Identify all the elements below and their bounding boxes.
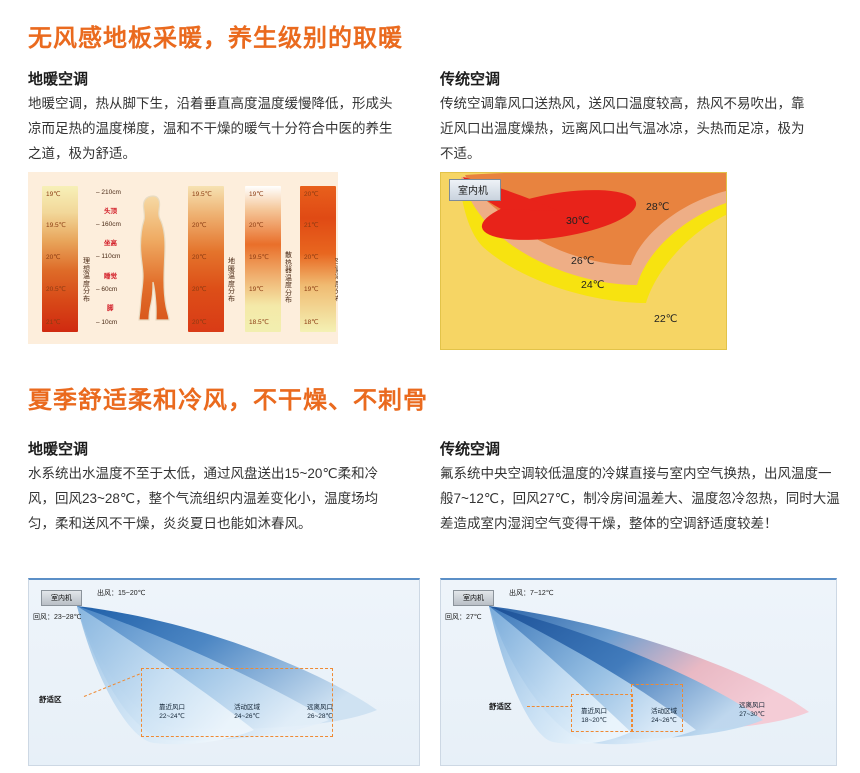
- chart-traditional-ac-airflow: 室内机 出风：7~12℃ 回风：27℃ 舒适区 靠近风口 18~20℃ 活动区域…: [440, 578, 837, 766]
- indoor-unit-badge-left: 室内机: [41, 590, 82, 606]
- section-2-right-body: 氟系统中央空调较低温度的冷媒直接与室内空气换热，出风温度一般7~12℃，回风27…: [440, 462, 840, 537]
- supply-air-label-left: 出风：15~20℃: [97, 588, 146, 598]
- temp-label-24: 24℃: [581, 279, 604, 291]
- return-air-label-right: 回风：27℃: [445, 612, 482, 622]
- gc1-label-0: 19℃: [46, 190, 61, 198]
- gc3-label-2: 19.5℃: [249, 253, 269, 261]
- gc4-label-4: 18℃: [304, 318, 319, 326]
- gc2-label-4: 20℃: [192, 318, 207, 326]
- gc3-label-4: 18.5℃: [249, 318, 269, 326]
- gc4-label-0: 20℃: [304, 190, 319, 198]
- section-1-right-body: 传统空调靠风口送热风，送风口温度较高，热风不易吹出，靠近风口出温度燥热，远离风口…: [440, 92, 810, 167]
- comfort-zone-box-left: [141, 668, 333, 737]
- section-2-left-body: 水系统出水温度不至于太低，通过风盘送出15~20℃柔和冷风，回风23~28℃，整…: [28, 462, 398, 537]
- body-mark-3: 脚: [107, 302, 114, 312]
- section-2-title: 夏季舒适柔和冷风，不干燥、不刺骨: [28, 380, 428, 415]
- gc2-label-2: 20℃: [192, 253, 207, 261]
- airflow-cones-right: [441, 580, 836, 765]
- indoor-unit-badge: 室内机: [449, 179, 501, 201]
- comfort-zone-tag-right: 舒适区: [489, 701, 512, 712]
- temp-label-30: 30℃: [566, 215, 589, 227]
- gc4-label-3: 19℃: [304, 285, 319, 293]
- gc1-title: 理想温度分布: [82, 258, 91, 303]
- section-1-left-body: 地暖空调，热从脚下生，沿着垂直高度温度缓慢降低，形成头凉而足热的温度梯度，温和不…: [28, 92, 398, 167]
- gc2-title: 地暖温度分布: [227, 258, 236, 303]
- temp-label-26: 26℃: [571, 255, 594, 267]
- return-air-label-left: 回风：23~28℃: [33, 612, 82, 622]
- gc4-title: 空调温度分布: [334, 258, 338, 303]
- comfort-zone-tag-left: 舒适区: [39, 694, 62, 705]
- height-mark-3: – 60cm: [96, 286, 117, 293]
- height-mark-4: – 10cm: [96, 319, 117, 326]
- product-comparison-page: 无风感地板采暖，养生级别的取暖 地暖空调 地暖空调，热从脚下生，沿着垂直高度温度…: [0, 0, 860, 773]
- temp-label-28: 28℃: [646, 201, 669, 213]
- gc4-label-1: 21℃: [304, 221, 319, 229]
- section-2-right-heading: 传统空调: [440, 438, 500, 459]
- indoor-unit-badge-right: 室内机: [453, 590, 494, 606]
- body-mark-1: 坐高: [104, 237, 117, 247]
- height-mark-1: – 160cm: [96, 221, 121, 228]
- body-mark-2: 睡觉: [104, 270, 117, 280]
- body-mark-0: 头顶: [104, 205, 117, 215]
- gc4-label-2: 20℃: [304, 253, 319, 261]
- human-silhouette-icon: [136, 194, 174, 322]
- zone-label-left-2: 远离风口 26~28℃: [307, 704, 333, 722]
- gc3-title: 散热器温度分布: [284, 252, 293, 305]
- section-2-left-heading: 地暖空调: [28, 438, 88, 459]
- zone-label-right-1: 活动区域 24~26℃: [651, 708, 677, 726]
- gc2-label-3: 20℃: [192, 285, 207, 293]
- chart-floor-heating-airflow: 室内机 出风：15~20℃ 回风：23~28℃ 舒适区 靠近风口 22~24℃ …: [28, 578, 420, 766]
- gc2-label-1: 20℃: [192, 221, 207, 229]
- gc1-label-2: 20℃: [46, 253, 61, 261]
- section-1-left-heading: 地暖空调: [28, 68, 88, 89]
- gc2-label-0: 19.5℃: [192, 190, 212, 198]
- gc1-label-1: 19.5℃: [46, 221, 66, 229]
- height-mark-2: – 110cm: [96, 253, 120, 260]
- gc3-label-1: 20℃: [249, 221, 264, 229]
- comfort-leader-line-right: [527, 706, 573, 707]
- chart-traditional-ac-heat-field: 室内机 30℃ 28℃ 26℃ 24℃ 22℃: [440, 172, 727, 350]
- chart-vertical-temperature-gradient: 19℃ 19.5℃ 20℃ 20.5℃ 21℃ 理想温度分布 – 210cm 头…: [28, 172, 338, 344]
- temp-label-22: 22℃: [654, 313, 677, 325]
- gc1-label-4: 21℃: [46, 318, 61, 326]
- section-1-title: 无风感地板采暖，养生级别的取暖: [28, 18, 403, 53]
- zone-label-left-0: 靠近风口 22~24℃: [159, 704, 185, 722]
- gc1-label-3: 20.5℃: [46, 285, 66, 293]
- supply-air-label-right: 出风：7~12℃: [509, 588, 554, 598]
- zone-label-right-2: 远离风口 27~30℃: [739, 702, 765, 720]
- gc3-label-3: 19℃: [249, 285, 264, 293]
- gc3-label-0: 19℃: [249, 190, 264, 198]
- zone-label-right-0: 靠近风口 18~20℃: [581, 708, 607, 726]
- zone-label-left-1: 活动区域 24~26℃: [234, 704, 260, 722]
- section-1-right-heading: 传统空调: [440, 68, 500, 89]
- height-mark-0: – 210cm: [96, 189, 121, 196]
